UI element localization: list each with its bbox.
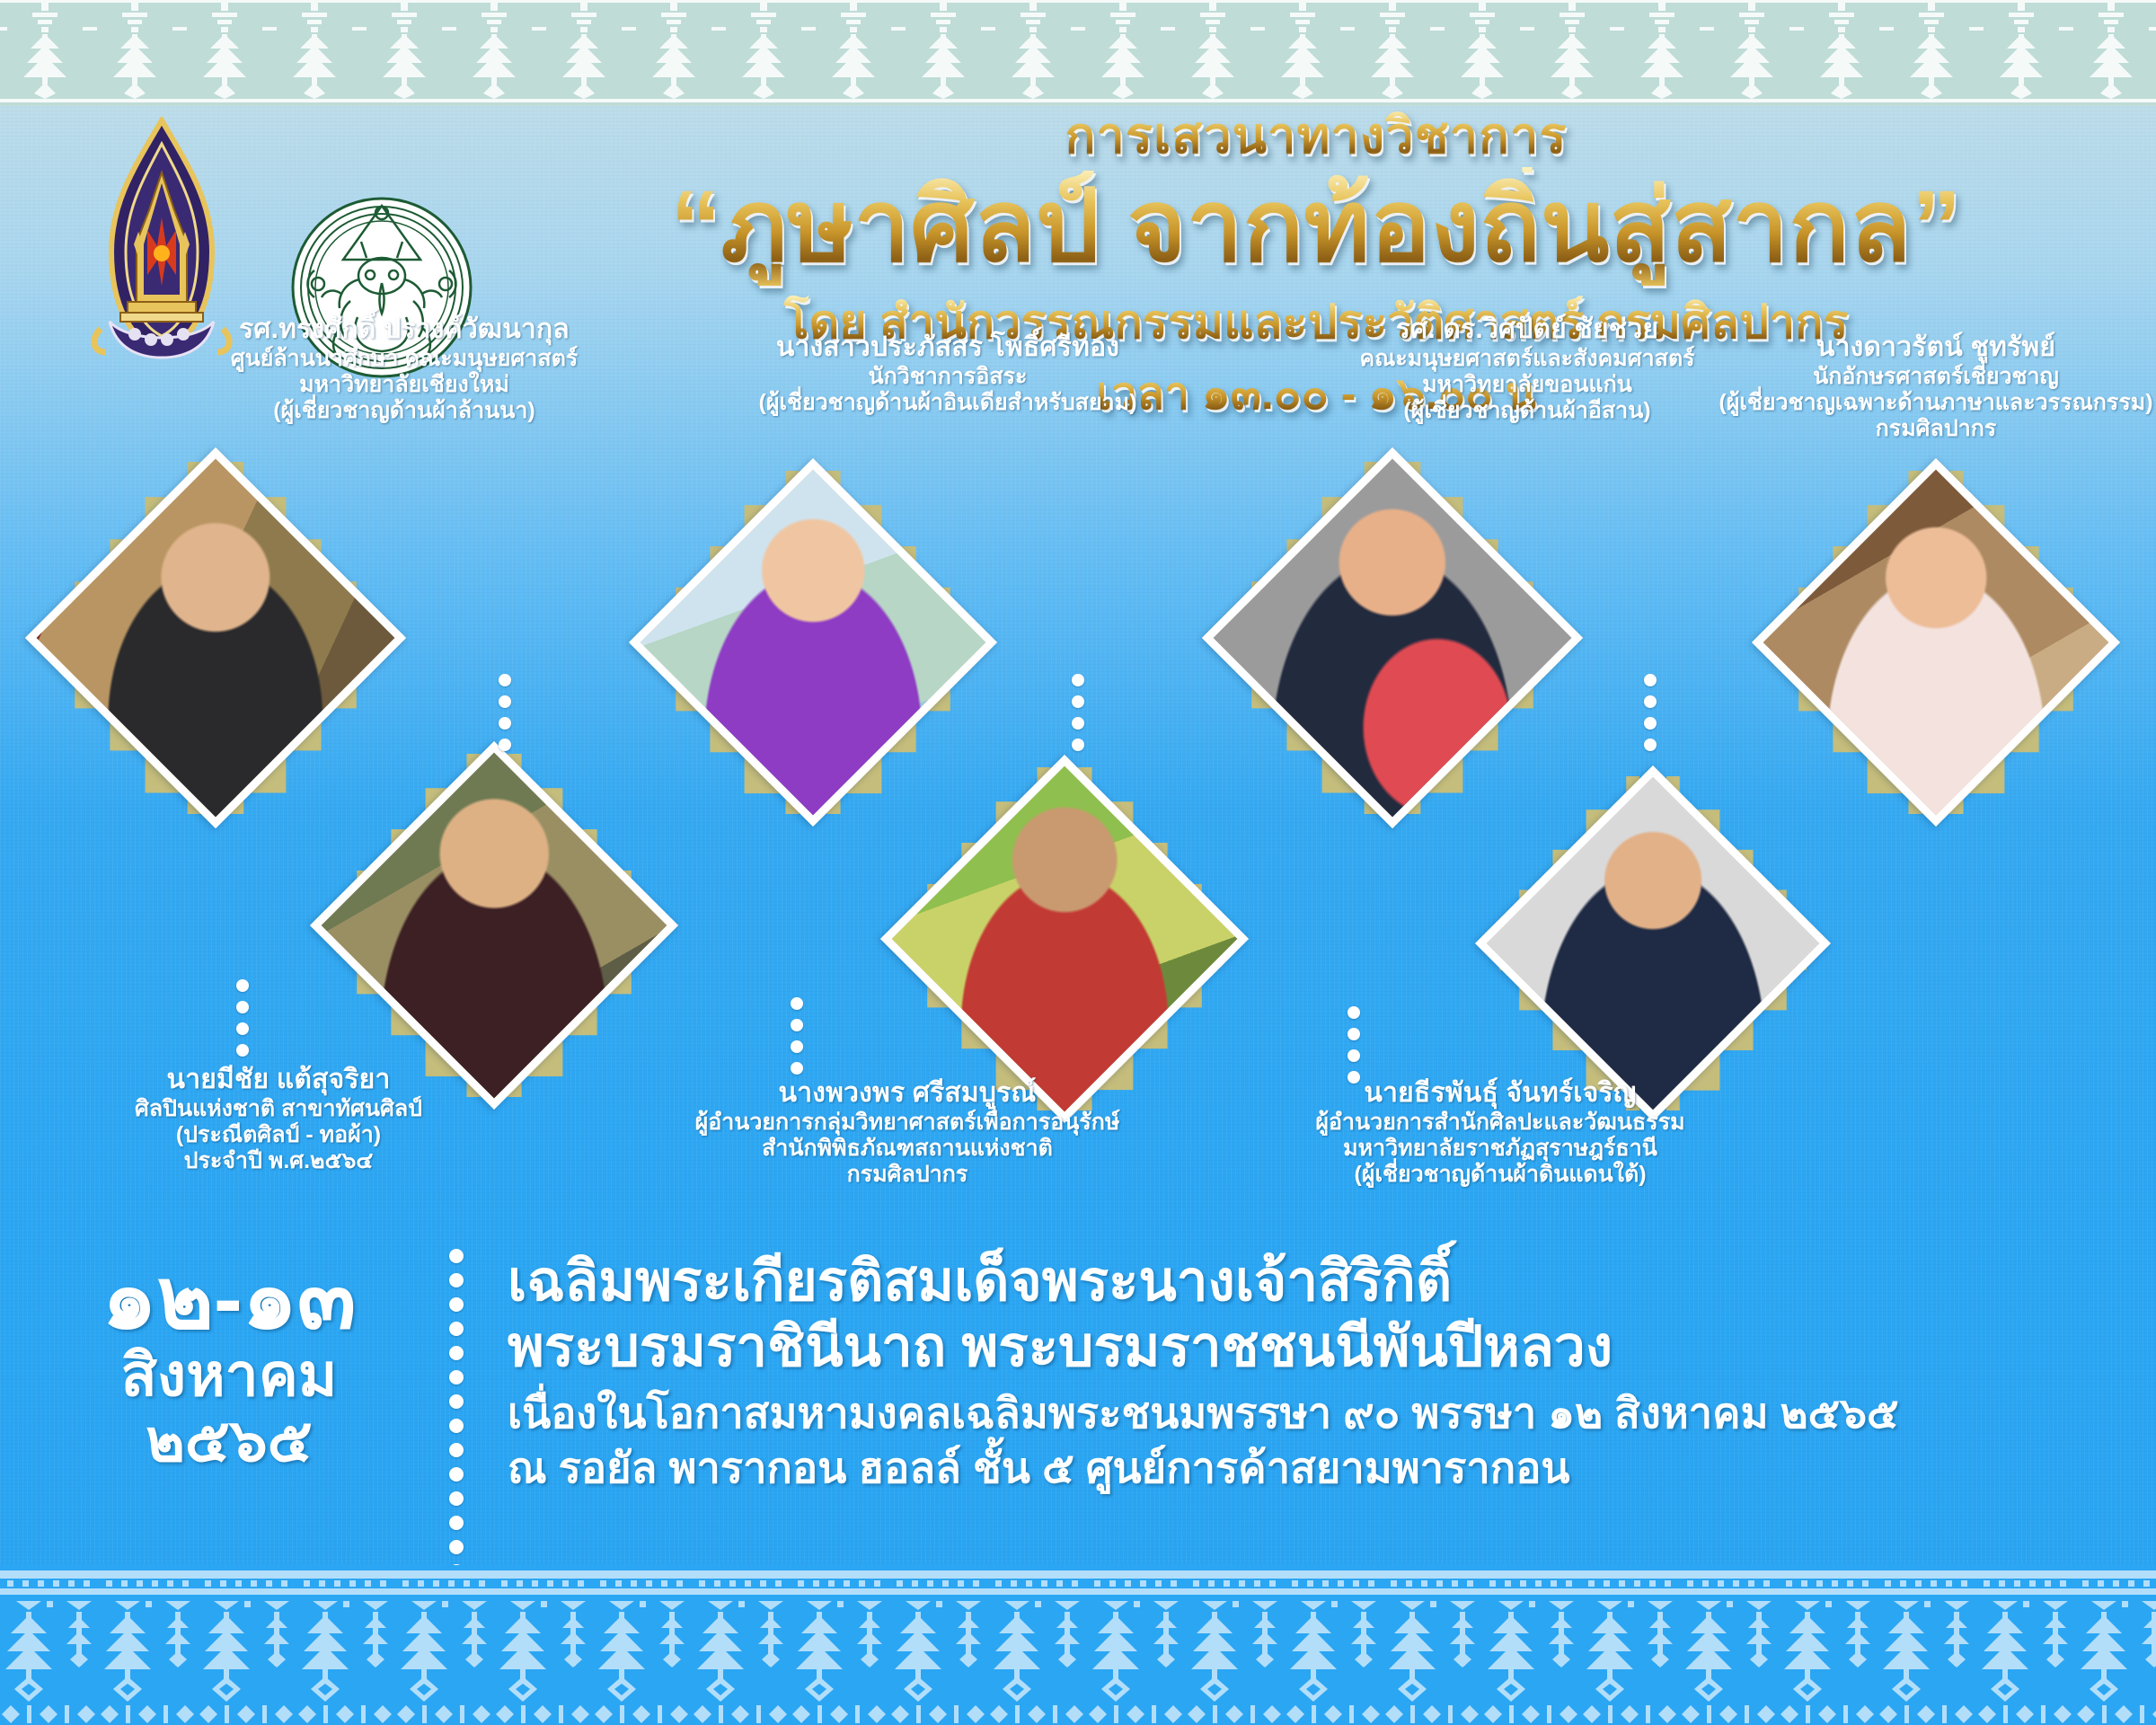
speaker-line-4-1: ศิลปินแห่งชาติ สาขาทัศนศิลป์ [27,1096,530,1122]
footer-line-3: เนื่องในโอกาสมหามงคลเฉลิมพระชนมพรรษา ๙๐ … [508,1385,2125,1440]
event-date-year: ๒๕๖๕ [18,1408,440,1473]
speaker-photo-frame-2 [683,512,943,773]
speaker-line-5-3: กรมศิลปากร [638,1162,1177,1188]
speaker-caption-2: นางสาวประภัสสร โพธิ์ศรีทอง นักวิชาการอิส… [678,332,1217,416]
speaker-card-2: นางสาวประภัสสร โพธิ์ศรีทอง นักวิชาการอิส… [683,512,943,773]
speaker-caption-6: นายธีรพันธุ์ จันทร์เจริญ ผู้อำนวยการสำนั… [1231,1078,1770,1188]
footer-text-block: เฉลิมพระเกียรติสมเด็จพระนางเจ้าสิริกิติ์… [508,1249,2125,1496]
speaker-photo-frame-7 [1806,512,2066,773]
speaker-name-2: นางสาวประภัสสร โพธิ์ศรีทอง [678,332,1217,364]
footer-dot-divider [449,1249,464,1579]
speaker-name-1: รศ.ทรงศักดิ์ ปรางค์วัฒนากุล [135,314,674,346]
speaker-line-7-1: นักอักษรศาสตร์เชี่ยวชาญ [1666,364,2156,390]
speaker-line-1-2: มหาวิทยาลัยเชียงใหม่ [135,372,674,398]
event-kicker: การเสวนาทางวิชาการ [503,108,2129,164]
speaker-line-7-2: (ผู้เชี่ยวชาญเฉพาะด้านภาษาและวรรณกรรม) [1666,390,2156,416]
speaker-name-6: นายธีรพันธุ์ จันทร์เจริญ [1231,1078,1770,1110]
event-date-month: สิงหาคม [18,1342,440,1408]
speaker-card-4: นายมีชัย แต้สุจริยา ศิลปินแห่งชาติ สาขาท… [364,795,624,1056]
speaker-photo-frame-6 [1527,818,1779,1069]
speaker-photo-frame-5 [934,809,1195,1069]
speaker-name-5: นางพวงพร ศรีสมบูรณ์ [638,1078,1177,1110]
speaker-caption-5: นางพวงพร ศรีสมบูรณ์ ผู้อำนวยการกลุ่มวิทย… [638,1078,1177,1188]
speaker-photo-frame-3 [1258,503,1527,773]
speaker-line-5-2: สำนักพิพิธภัณฑสถานแห่งชาติ [638,1136,1177,1162]
speaker-line-7-3: กรมศิลปากร [1666,416,2156,442]
dot-separator [499,674,511,751]
speaker-name-7: นางดาวรัตน์ ชูทรัพย์ [1666,332,2156,364]
speaker-line-6-1: ผู้อำนวยการสำนักศิลปะและวัฒนธรรม [1231,1110,1770,1136]
event-date-day: ๑๒-๑๓ [18,1256,440,1342]
footer-line-4: ณ รอยัล พารากอน ฮอลล์ ชั้น ๕ ศูนย์การค้า… [508,1440,2125,1495]
speaker-line-1-3: (ผู้เชี่ยวชาญด้านผ้าล้านนา) [135,398,674,424]
event-title: “ภูษาศิลป์ จากท้องถิ่นสู่สากล” [503,167,2129,286]
speaker-line-1-1: ศูนย์ล้านนาศึกษา คณะมนุษยศาสตร์ [135,346,674,372]
speaker-line-4-2: (ประณีตศิลป์ - ทอผ้า) [27,1122,530,1148]
speaker-line-2-2: (ผู้เชี่ยวชาญด้านผ้าอินเดียสำหรับสยาม) [678,390,1217,416]
speaker-card-5: นางพวงพร ศรีสมบูรณ์ ผู้อำนวยการกลุ่มวิทย… [934,809,1195,1069]
speaker-photo-frame-4 [364,795,624,1056]
speaker-card-6: นายธีรพันธุ์ จันทร์เจริญ ผู้อำนวยการสำนั… [1527,818,1779,1069]
speaker-card-7: นางดาวรัตน์ ชูทรัพย์ นักอักษรศาสตร์เชี่ย… [1806,512,2066,773]
speaker-caption-4: นายมีชัย แต้สุจริยา ศิลปินแห่งชาติ สาขาท… [27,1065,530,1174]
speaker-caption-1: รศ.ทรงศักดิ์ ปรางค์วัฒนากุล ศูนย์ล้านนาศ… [135,314,674,424]
speaker-photo-frame-1 [81,503,350,773]
speaker-caption-7: นางดาวรัตน์ ชูทรัพย์ นักอักษรศาสตร์เชี่ย… [1666,332,2156,442]
speakers-section: รศ.ทรงศักดิ์ ปรางค์วัฒนากุล ศูนย์ล้านนาศ… [0,539,2156,1204]
dot-separator [1347,1006,1360,1084]
speaker-line-6-2: มหาวิทยาลัยราชภัฏสุราษฎร์ธานี [1231,1136,1770,1162]
dot-separator [1072,674,1084,751]
dot-separator [236,979,249,1057]
dot-separator [791,997,803,1075]
speaker-card-1: รศ.ทรงศักดิ์ ปรางค์วัฒนากุล ศูนย์ล้านนาศ… [81,503,350,773]
event-date-block: ๑๒-๑๓ สิงหาคม ๒๕๖๕ [18,1256,440,1473]
footer-line-2: พระบรมราชินีนาถ พระบรมราชชนนีพันปีหลวง [508,1314,2125,1380]
speaker-card-3: รศ. ดร.วิศปัตย์ ชัยช่วย คณะมนุษยศาสตร์แล… [1258,503,1527,773]
speaker-name-4: นายมีชัย แต้สุจริยา [27,1065,530,1096]
dot-separator [1644,674,1657,751]
speaker-line-2-1: นักวิชาการอิสระ [678,364,1217,390]
speaker-line-5-1: ผู้อำนวยการกลุ่มวิทยาศาสตร์เพื่อการอนุรั… [638,1110,1177,1136]
footer-line-1: เฉลิมพระเกียรติสมเด็จพระนางเจ้าสิริกิติ์ [508,1249,2125,1314]
footer-section: ๑๒-๑๓ สิงหาคม ๒๕๖๕ เฉลิมพระเกียรติสมเด็จ… [0,1249,2156,1608]
speaker-line-4-3: ประจำปี พ.ศ.๒๕๖๔ [27,1148,530,1174]
poster-root: การเสวนาทางวิชาการ “ภูษาศิลป์ จากท้องถิ่… [0,0,2156,1725]
top-textile-border [0,0,2156,106]
speaker-line-6-3: (ผู้เชี่ยวชาญด้านผ้าดินแดนใต้) [1231,1162,1770,1188]
